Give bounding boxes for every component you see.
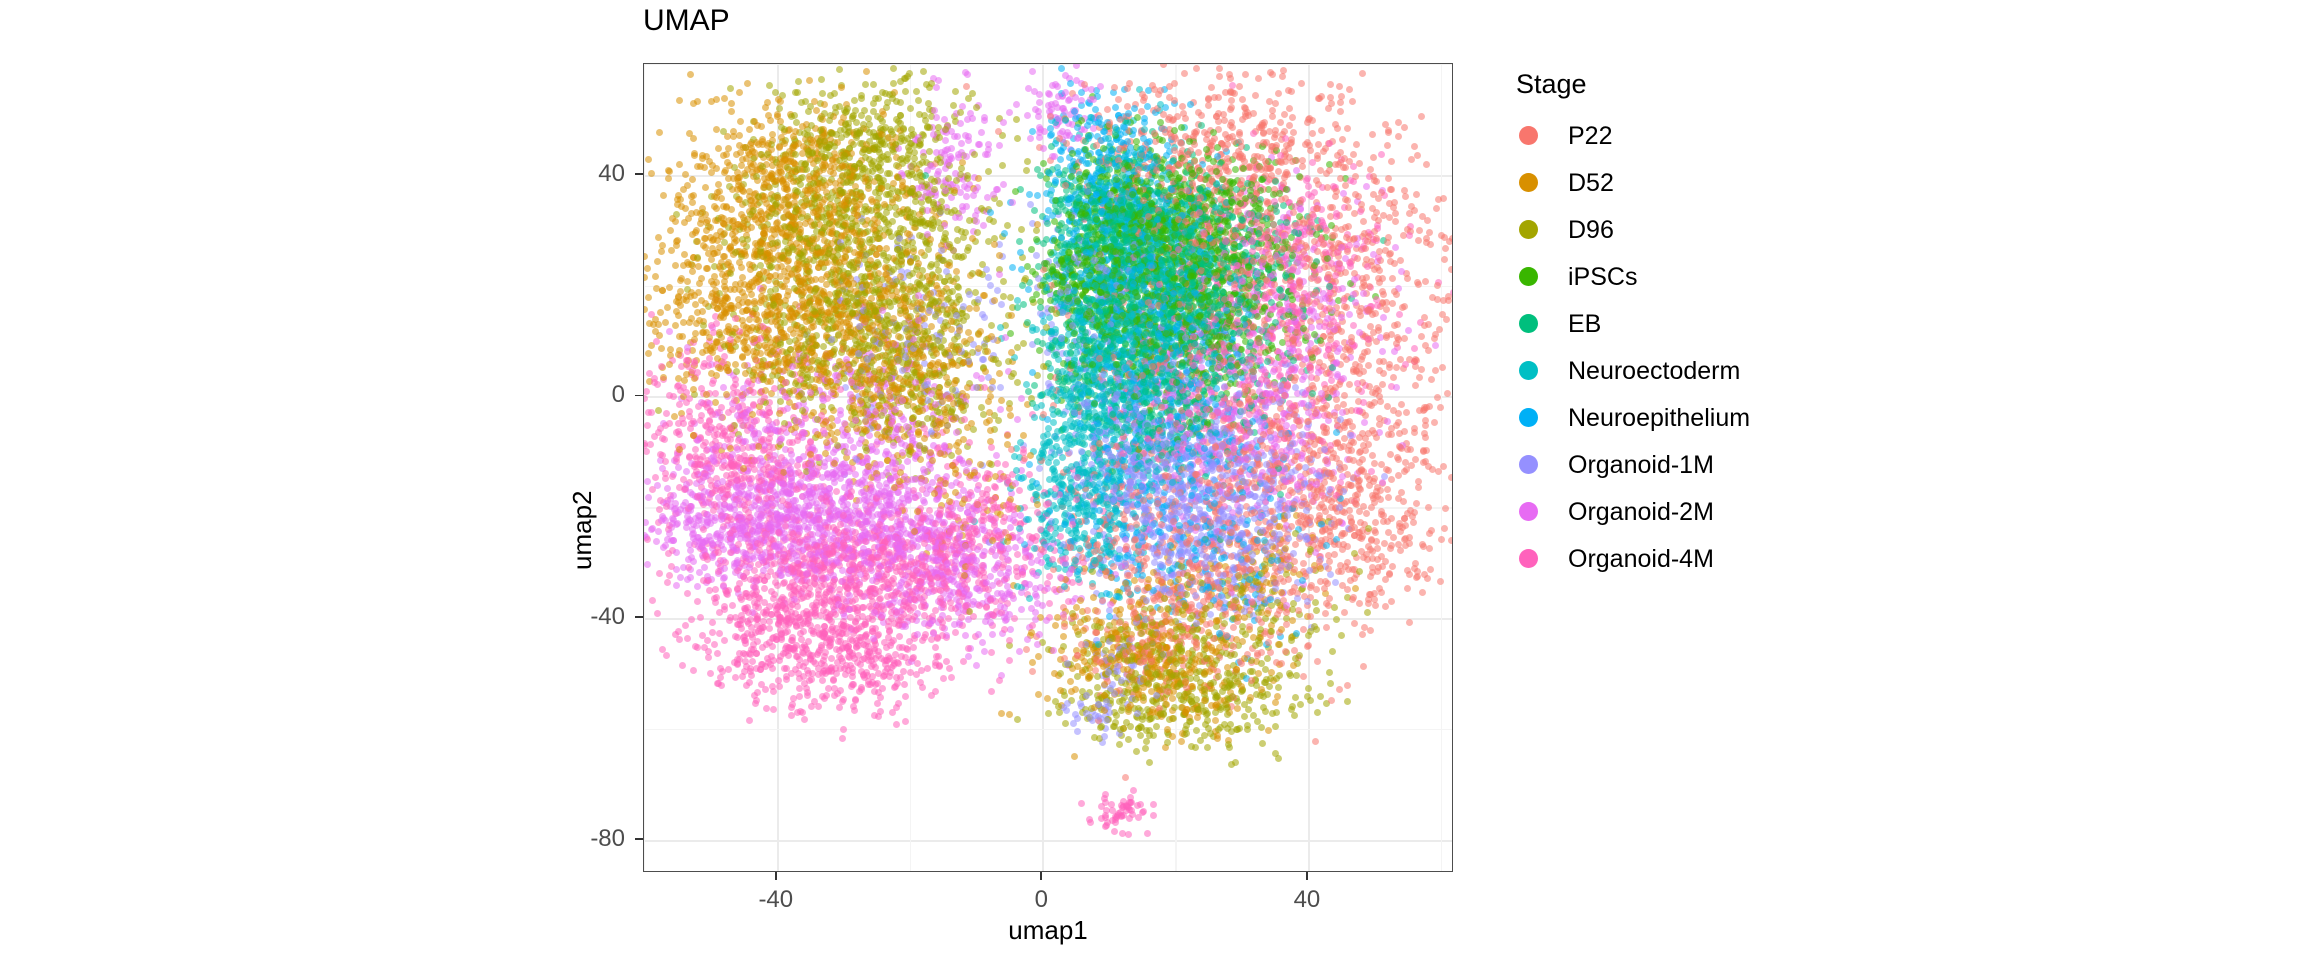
circle-icon [1519,502,1538,521]
y-tick-mark [635,395,643,397]
x-tick-label: 40 [1294,886,1321,914]
legend-item-d52[interactable]: D52 [1505,159,1925,206]
legend-item-label: Organoid-4M [1568,545,1714,573]
legend-item-label: Organoid-1M [1568,451,1714,479]
y-tick-mark [635,616,643,618]
legend-key-swatch [1505,535,1551,582]
legend-item-p22[interactable]: P22 [1505,112,1925,159]
legend-key-swatch [1505,394,1551,441]
legend-item-neuroepithelium[interactable]: Neuroepithelium [1505,394,1925,441]
legend-item-label: P22 [1568,122,1612,150]
page-title: UMAP [643,2,730,40]
legend-key-swatch [1505,112,1551,159]
legend-key-swatch [1505,300,1551,347]
legend-key-swatch [1505,347,1551,394]
x-tick-label: -40 [758,886,793,914]
umap-scatter-figure: UMAP umap1 umap2 Stage P22D52D96iPSCsEBN… [0,0,2304,960]
circle-icon [1519,173,1538,192]
legend-item-label: Organoid-2M [1568,498,1714,526]
circle-icon [1519,455,1538,474]
legend-item-label: iPSCs [1568,263,1637,291]
y-tick-mark [635,838,643,840]
legend-key-swatch [1505,441,1551,488]
legend-item-ipscs[interactable]: iPSCs [1505,253,1925,300]
legend-title: Stage [1516,68,1925,100]
y-tick-label: 40 [513,160,625,188]
legend-item-label: EB [1568,310,1601,338]
legend-key-swatch [1505,159,1551,206]
circle-icon [1519,220,1538,239]
x-tick-mark [1306,872,1308,880]
legend-item-label: D96 [1568,216,1614,244]
circle-icon [1519,267,1538,286]
circle-icon [1519,361,1538,380]
x-tick-mark [775,872,777,880]
legend-item-organoid-2m[interactable]: Organoid-2M [1505,488,1925,535]
y-tick-label: -80 [513,825,625,853]
legend-key-swatch [1505,488,1551,535]
y-tick-mark [635,173,643,175]
circle-icon [1519,126,1538,145]
legend-key-swatch [1505,253,1551,300]
legend-items: P22D52D96iPSCsEBNeuroectodermNeuroepithe… [1505,112,1925,582]
y-tick-label: 0 [513,381,625,409]
legend: Stage P22D52D96iPSCsEBNeuroectodermNeuro… [1505,68,1925,582]
legend-item-label: Neuroectoderm [1568,357,1740,385]
x-axis-label: umap1 [643,915,1453,946]
legend-item-organoid-4m[interactable]: Organoid-4M [1505,535,1925,582]
legend-item-neuroectoderm[interactable]: Neuroectoderm [1505,347,1925,394]
legend-item-label: Neuroepithelium [1568,404,1750,432]
legend-key-swatch [1505,206,1551,253]
circle-icon [1519,314,1538,333]
x-tick-mark [1040,872,1042,880]
circle-icon [1519,408,1538,427]
plot-panel[interactable] [643,63,1453,872]
y-tick-label: -40 [513,603,625,631]
scatter-points-layer [644,64,1452,871]
legend-item-label: D52 [1568,169,1614,197]
x-tick-label: 0 [1035,886,1048,914]
legend-item-eb[interactable]: EB [1505,300,1925,347]
circle-icon [1519,549,1538,568]
legend-item-d96[interactable]: D96 [1505,206,1925,253]
legend-item-organoid-1m[interactable]: Organoid-1M [1505,441,1925,488]
